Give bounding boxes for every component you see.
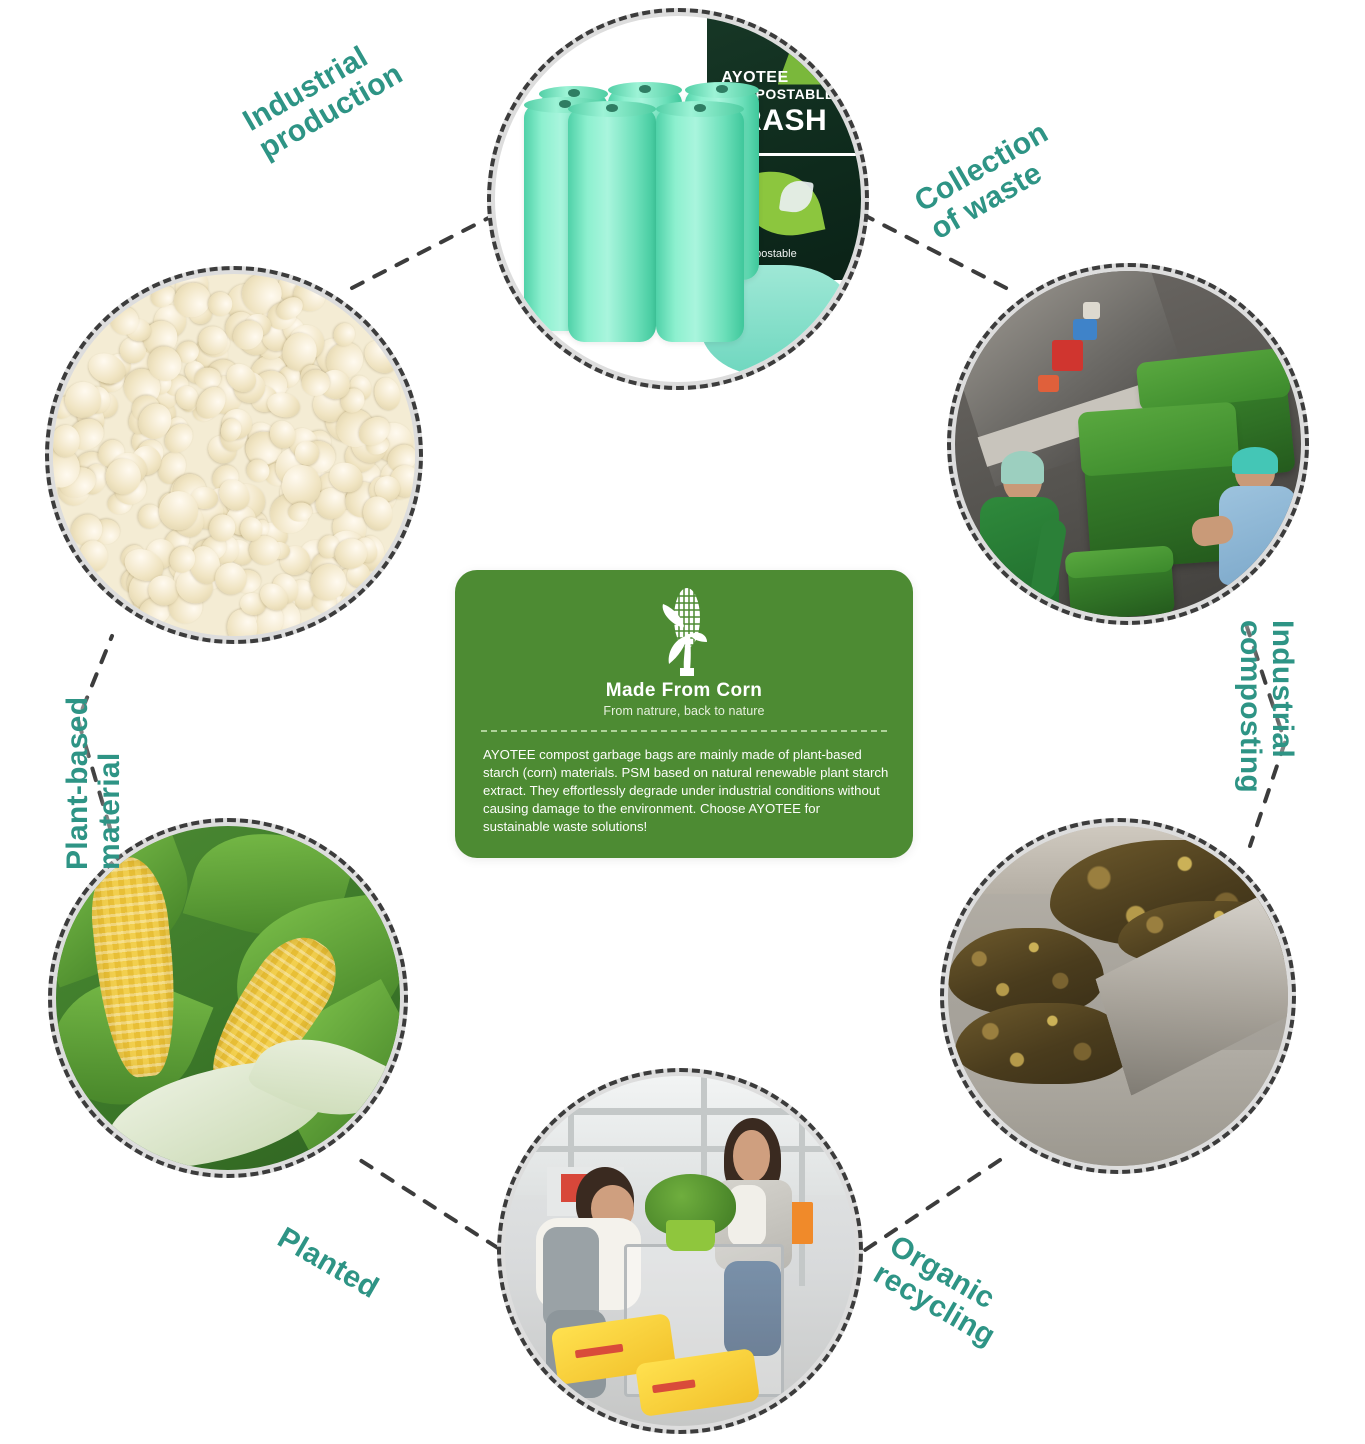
sanitation-worker — [976, 454, 1073, 617]
stage-image-industrial-production: AYOTEE COMPOSTABLE TRASH Compostable — [487, 8, 869, 390]
stage-image-organic-recycling — [497, 1068, 863, 1434]
stage-image-collection-of-waste — [947, 263, 1309, 625]
card-subtitle: From natrure, back to nature — [455, 704, 913, 718]
stage-label-plant-based-material: Plant-based material — [62, 697, 127, 870]
green-waste-bin — [1067, 551, 1175, 617]
connector-composting-to-organic — [862, 1160, 1000, 1252]
stage-label-planted: Planted — [272, 1222, 384, 1305]
card-divider — [481, 730, 887, 732]
card-body: AYOTEE compost garbage bags are mainly m… — [483, 746, 889, 836]
card-title: Made From Corn — [455, 680, 913, 702]
infographic-canvas: AYOTEE COMPOSTABLE TRASH Compostable — [0, 0, 1365, 1444]
bag-roll — [656, 108, 744, 342]
stage-image-industrial-composting — [940, 818, 1296, 1174]
corn-cob-icon — [653, 584, 715, 680]
sanitation-worker — [1211, 451, 1301, 589]
stage-label-industrial-production: Industrial production — [238, 30, 409, 166]
connector-organic-to-planted — [360, 1160, 498, 1248]
bag-roll — [568, 108, 656, 342]
stage-label-collection-of-waste: Collection of waste — [910, 117, 1071, 247]
center-info-card: Made From Corn From natrure, back to nat… — [455, 570, 913, 858]
stage-image-plant-based-material — [45, 266, 423, 644]
stage-image-planted — [48, 818, 408, 1178]
stage-label-organic-recycling: Organic recycling — [868, 1230, 1017, 1353]
stage-label-industrial-composting: Industrial composting — [1233, 620, 1298, 793]
